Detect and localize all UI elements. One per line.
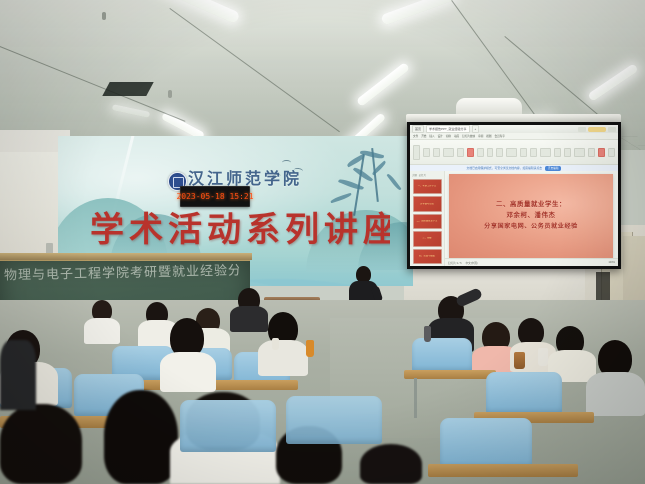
slide-heading: 二、高质量就业学生： [496,201,566,209]
audience-torso [230,306,268,332]
bamboo-leaf [387,173,402,192]
copy-icon[interactable] [433,148,440,157]
auditorium-chair[interactable] [412,338,472,372]
whiteboard-left [0,152,61,256]
wps-menu-bar: 文件 开始 插入 设计 切换 动画 幻灯片放映 审阅 视图 会员专享 [410,133,618,140]
sprinkler-head-icon [168,90,172,98]
wps-ribbon [410,140,618,165]
current-slide[interactable]: 二、高质量就业学生： 邓余柯、潘伟杰 分享国家电网、公务员就业经验 [449,174,613,258]
slide-thumbnail-label: 分享备考经验 [419,203,435,206]
bird-silhouette-icon [282,160,291,165]
auditorium-chair[interactable] [440,418,532,468]
arrange-icon[interactable] [564,148,571,157]
water-bottle [306,340,314,357]
window-controls [578,127,616,132]
menu-item[interactable]: 文件 [413,134,418,138]
lecture-hall-photo: 汉江师范学院 2023-05-18 15:21 学术活动系列讲座 物理与电子工程… [0,0,645,484]
desk-leg [414,378,417,418]
underline-icon[interactable] [496,148,503,157]
menu-item[interactable]: 幻灯片放映 [462,134,475,138]
find-icon[interactable] [588,148,595,157]
cut-icon[interactable] [423,148,430,157]
ceiling-panel-gap [102,82,153,96]
editor-body: 大纲 幻灯片 一、考研上岸学生 分享备考经验 二、高质量就业学生 三、答疑 [410,171,618,266]
water-bottle [424,326,431,342]
protected-view-text: 文档已启用保护模式，可安全浏览文档内容，如需编辑请点击 [467,166,543,170]
close-icon[interactable] [608,127,616,132]
chalk-tray [0,253,252,260]
led-clock-display: 2023-05-18 15:21 [180,186,250,207]
sprinkler-head-icon [102,12,106,20]
slide-stage: 二、高质量就业学生： 邓余柯、潘伟杰 分享国家电网、公务员就业经验 幻灯片 3 … [445,171,618,266]
student-desk [404,370,496,379]
menu-item[interactable]: 开始 [421,134,426,138]
menu-item[interactable]: 会员专享 [494,134,504,138]
tab-presentation[interactable]: 学术报告PPT_就业经验分享 [426,125,470,133]
tab-home[interactable]: 首页 [412,125,424,133]
slide-thumbnail[interactable]: 二、高质量就业学生 [413,214,442,229]
audience-torso [258,340,308,376]
tab-new[interactable]: + [472,125,480,133]
new-slide-icon[interactable] [467,148,474,157]
projection-screen: 首页 学术报告PPT_就业经验分享 + 文件 开始 插入 设计 切换 动画 幻灯… [407,122,621,269]
language-indicator: 中文(中国) [466,261,478,265]
slide-thumbnail[interactable]: 一、考研上岸学生 [413,179,442,194]
menu-item[interactable]: 设计 [438,134,443,138]
audience-torso [160,352,216,392]
minimize-icon[interactable] [578,127,586,132]
thumbnail-panel-header: 大纲 幻灯片 [410,173,444,177]
slide-thumbnail-label: 四、总结与展望 [418,255,436,258]
slide-thumbnail[interactable]: 四、总结与展望 [413,249,442,264]
slide-subtitle: 分享国家电网、公务员就业经验 [484,223,578,231]
banner-title: 学术活动系列讲座 [90,208,390,254]
audience-torso [84,318,120,344]
led-clock-text: 2023-05-18 15:21 [176,192,253,201]
slide-names: 邓余柯、潘伟杰 [507,212,556,220]
paste-icon[interactable] [413,145,420,160]
bullet-list-icon[interactable] [520,148,527,157]
upgrade-badge[interactable] [588,127,606,132]
auditorium-chair[interactable] [286,396,382,444]
slide-thumbnail-label: 一、考研上岸学生 [417,185,437,188]
wps-tab-bar: 首页 学术报告PPT_就业经验分享 + [410,125,618,133]
status-bar: 幻灯片 3 / 5 中文(中国) 100% [445,258,618,266]
audience-head [0,404,82,484]
projected-desktop: 首页 学术报告PPT_就业经验分享 + 文件 开始 插入 设计 切换 动画 幻灯… [410,125,618,266]
menu-item[interactable]: 视图 [486,134,491,138]
drink-bottle [514,352,525,369]
menu-item[interactable]: 插入 [429,134,434,138]
font-size-select[interactable] [457,148,464,157]
italic-icon[interactable] [487,148,494,157]
font-family-select[interactable] [443,148,454,157]
insert-picture-icon[interactable] [540,148,551,157]
zoom-level: 100% [608,261,615,264]
slide-counter: 幻灯片 3 / 5 [448,261,462,265]
bold-icon[interactable] [477,148,484,157]
thermos [538,348,548,366]
menu-item[interactable]: 切换 [446,134,451,138]
auditorium-chair[interactable] [180,400,276,452]
water-cup [272,338,279,350]
audience-torso [586,372,645,416]
quick-style-icon[interactable] [574,148,585,157]
bamboo-leaf [353,166,373,183]
enable-editing-button[interactable]: 开启编辑 [545,166,561,171]
student-desk [428,464,578,477]
shapes-icon[interactable] [530,148,537,157]
bamboo-leaf [330,193,352,204]
slide-thumbnail[interactable]: 三、答疑 [413,231,442,246]
slide-thumbnail-label: 二、高质量就业学生 [416,220,439,223]
text-box-icon[interactable] [554,148,561,157]
outline-tab[interactable]: 大纲 [412,173,417,177]
slides-tab[interactable]: 幻灯片 [419,173,426,177]
menu-item[interactable]: 动画 [454,134,459,138]
align-group[interactable] [506,148,517,157]
menu-item[interactable]: 审阅 [478,134,483,138]
zoom-controls[interactable]: 100% [608,261,615,264]
slide-thumbnail[interactable]: 分享备考经验 [413,196,442,211]
audience-head [360,444,422,484]
auditorium-chair[interactable] [486,372,562,414]
audience-head [104,390,178,484]
slideshow-icon[interactable] [598,148,605,157]
audience-torso [0,340,36,410]
slide-thumbnail-label: 三、答疑 [421,237,432,240]
slide-thumbnail-panel[interactable]: 大纲 幻灯片 一、考研上岸学生 分享备考经验 二、高质量就业学生 三、答疑 [410,171,445,266]
more-icon[interactable] [608,148,615,157]
